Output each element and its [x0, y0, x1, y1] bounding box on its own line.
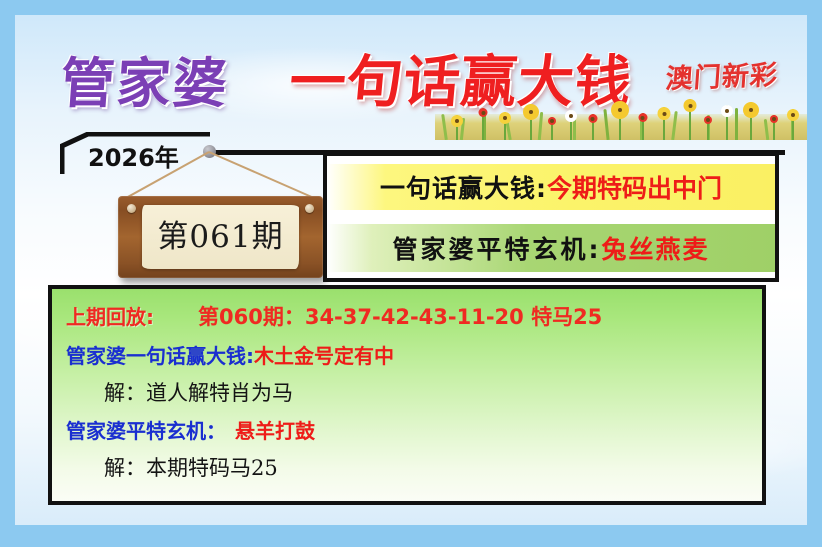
flower-icon — [657, 107, 671, 140]
replay-row: 上期回放: 第060期：34-37-42-43-11-20 特马25 — [66, 301, 762, 331]
flower-icon — [769, 115, 779, 140]
mystery-detail-row: 管家婆平特玄机： 悬羊打鼓 — [66, 415, 762, 444]
lottery-poster: 管家婆 一句话赢大钱 澳门新彩 — [0, 0, 822, 547]
flower-icon — [477, 108, 489, 140]
brand-title: 管家婆 — [58, 39, 232, 118]
slogan-answer-row: 解：道人解特肖为马 — [104, 377, 762, 407]
slogan-detail-row: 管家婆一句话赢大钱: 木土金号定有中 — [66, 340, 762, 369]
flower-icon — [703, 116, 713, 140]
flower-icon — [547, 117, 557, 140]
region-label: 澳门新彩 — [664, 53, 779, 96]
grass-blade — [735, 108, 738, 140]
banner-row-mystery: 管家婆平特玄机:兔丝燕麦 — [327, 224, 775, 272]
flower-icon — [611, 101, 629, 140]
issue-number-label: 第061期 — [157, 222, 283, 253]
replay-value: 第060期：34-37-42-43-11-20 特马25 — [198, 301, 602, 331]
content-box: 上期回放: 第060期：34-37-42-43-11-20 特马25 管家婆一句… — [48, 285, 766, 505]
headline-banner-box: 一句话赢大钱:今期特码出中门 管家婆平特玄机:兔丝燕麦 — [323, 152, 779, 282]
banner-row-slogan-text: 一句话赢大钱:今期特码出中门 — [327, 169, 775, 205]
sign-ropes — [118, 150, 328, 200]
issue-sign-paper: 第061期 — [142, 205, 299, 269]
banner-slogan-value: 今期特码出中门 — [547, 174, 722, 203]
mystery-detail-label: 管家婆平特玄机： — [66, 415, 226, 444]
banner-row-slogan: 一句话赢大钱:今期特码出中门 — [327, 164, 775, 210]
issue-sign-board[interactable]: 第061期 — [118, 196, 323, 278]
flower-icon — [721, 105, 733, 140]
flower-icon — [565, 110, 577, 140]
flower-icon — [637, 113, 648, 140]
flower-icon — [683, 99, 697, 140]
mystery-detail-value: 悬羊打鼓 — [235, 415, 315, 444]
flower-icon — [523, 104, 539, 140]
flower-icon — [787, 109, 799, 140]
flower-icon — [451, 115, 463, 140]
replay-label: 上期回放: — [66, 301, 154, 330]
mystery-answer-text: 解：本期特码马25 — [104, 452, 278, 482]
flower-icon — [587, 114, 598, 140]
flower-icon — [743, 102, 759, 140]
flower-icon — [499, 112, 511, 140]
banner-mystery-value: 兔丝燕麦 — [601, 235, 709, 264]
slogan-detail-label: 管家婆一句话赢大钱: — [66, 340, 254, 369]
poster-header: 管家婆 一句话赢大钱 澳门新彩 — [15, 15, 807, 140]
slogan-answer-text: 解：道人解特肖为马 — [104, 377, 293, 407]
banner-row-mystery-text: 管家婆平特玄机:兔丝燕麦 — [327, 230, 775, 266]
banner-mystery-label: 管家婆平特玄机: — [392, 235, 601, 264]
slogan-detail-value: 木土金号定有中 — [254, 340, 394, 369]
mystery-answer-row: 解：本期特码马25 — [104, 452, 762, 482]
flower-meadow-decoration — [435, 93, 807, 140]
banner-slogan-label: 一句话赢大钱: — [380, 174, 547, 203]
